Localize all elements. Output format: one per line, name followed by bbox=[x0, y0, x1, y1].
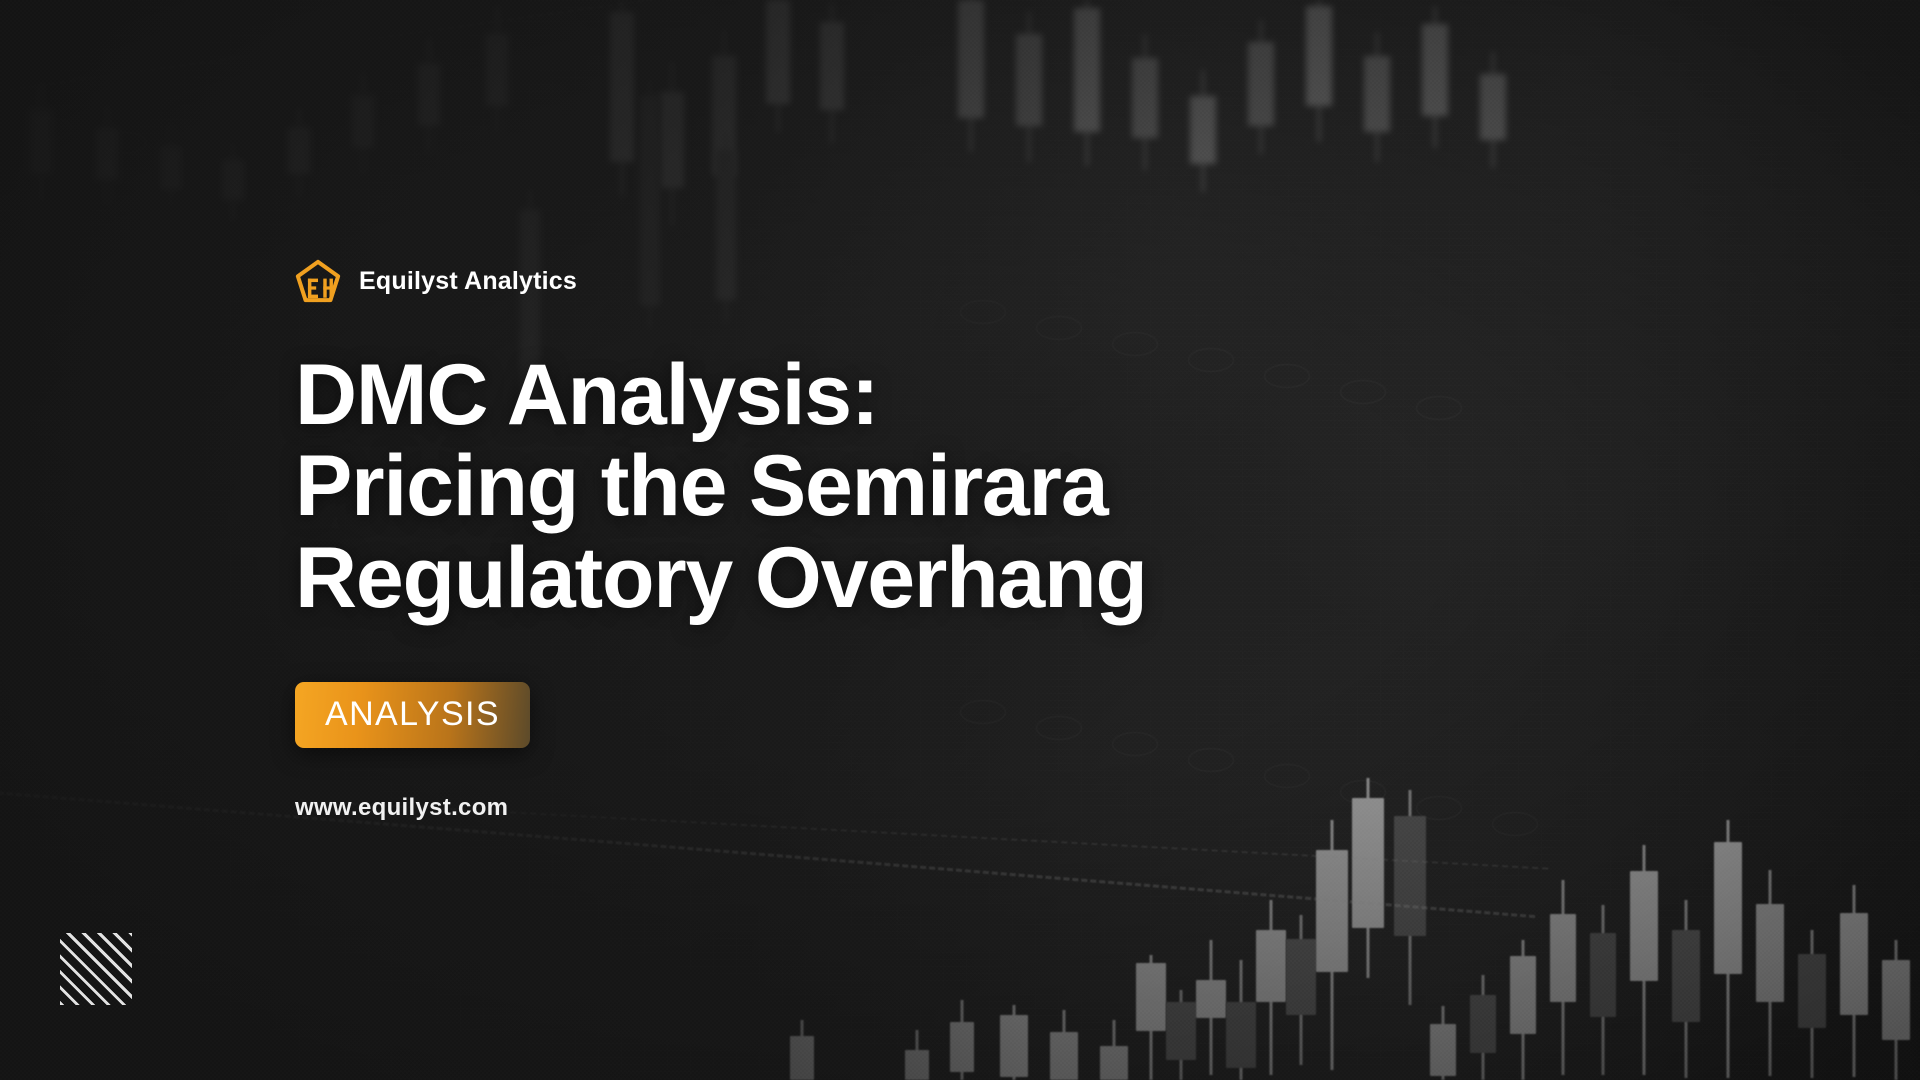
headline-line-2: Pricing the Semirara bbox=[295, 438, 1107, 534]
title-card: Equilyst Analytics DMC Analysis: Pricing… bbox=[0, 0, 1920, 1080]
brand-name: Equilyst Analytics bbox=[359, 267, 577, 296]
diagonal-hatch-decoration bbox=[60, 933, 132, 1005]
website-url[interactable]: www.equilyst.com bbox=[295, 794, 1495, 822]
pentagon-ea-monogram-icon bbox=[295, 258, 341, 304]
category-badge[interactable]: ANALYSIS bbox=[295, 682, 530, 748]
headline-line-1: DMC Analysis: bbox=[295, 347, 878, 443]
content-column: Equilyst Analytics DMC Analysis: Pricing… bbox=[295, 0, 1495, 1080]
page-title: DMC Analysis: Pricing the Semirara Regul… bbox=[295, 350, 1295, 623]
brand-lockup: Equilyst Analytics bbox=[295, 258, 1495, 304]
headline-line-3: Regulatory Overhang bbox=[295, 530, 1147, 626]
